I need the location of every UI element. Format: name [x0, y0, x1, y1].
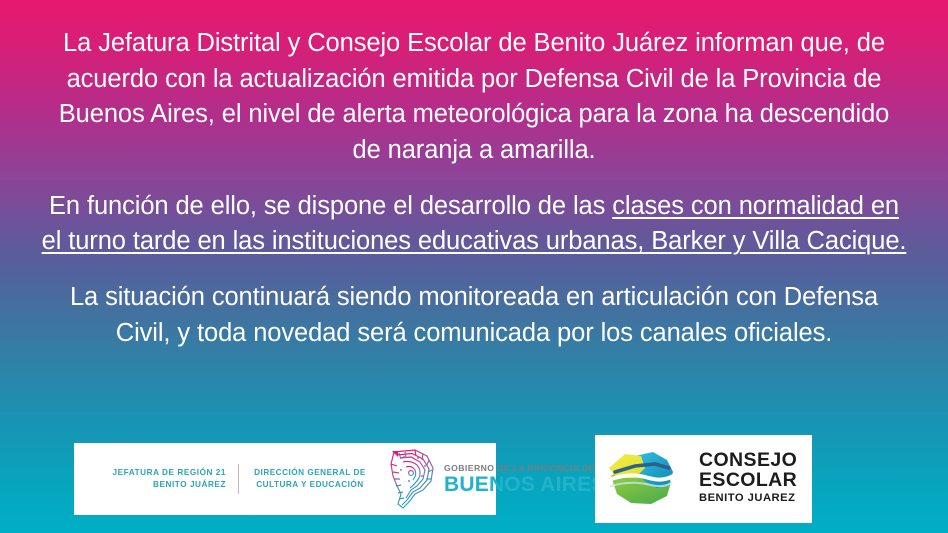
- paragraph-2-lead-text: En función de ello, se dispone el desarr…: [49, 192, 612, 220]
- consejo-escolar-logo-box: CONSEJO ESCOLAR BENITO JUAREZ: [595, 435, 812, 523]
- buenos-aires-province-map-icon: [385, 448, 437, 510]
- consejo-line-1: CONSEJO: [699, 451, 797, 471]
- paragraph-alert-downgrade: La Jefatura Distrital y Consejo Escolar …: [30, 26, 918, 169]
- consejo-line-3: BENITO JUAREZ: [699, 490, 797, 507]
- message-block: La Jefatura Distrital y Consejo Escolar …: [0, 26, 948, 352]
- jefatura-region-label: JEFATURA DE REGIÓN 21 BENITO JUÁREZ: [84, 467, 226, 491]
- direccion-line-2: CULTURA Y EDUCACIÓN: [251, 479, 369, 491]
- announcement-poster: La Jefatura Distrital y Consejo Escolar …: [0, 0, 948, 533]
- paragraph-monitoring: La situación continuará siendo monitorea…: [30, 280, 918, 351]
- logo-bar: JEFATURA DE REGIÓN 21 BENITO JUÁREZ DIRE…: [0, 433, 948, 533]
- direccion-general-label: DIRECCIÓN GENERAL DE CULTURA Y EDUCACIÓN: [251, 467, 369, 491]
- government-logo-box: JEFATURA DE REGIÓN 21 BENITO JUÁREZ DIRE…: [74, 443, 496, 515]
- consejo-escolar-map-mark-icon: [601, 446, 696, 512]
- logo-divider: [238, 464, 239, 494]
- provincia-buenos-aires-logo: GOBIERNO DE LA PROVINCIA DE BUENOS AIRES: [385, 448, 535, 510]
- provincia-text: GOBIERNO DE LA PROVINCIA DE BUENOS AIRES: [444, 463, 605, 495]
- jefatura-line-2: BENITO JUÁREZ: [84, 479, 226, 491]
- paragraph-classes-normal: En función de ello, se dispone el desarr…: [30, 189, 918, 260]
- consejo-escolar-text: CONSEJO ESCOLAR BENITO JUAREZ: [699, 451, 797, 508]
- consejo-line-2: ESCOLAR: [699, 471, 797, 491]
- direccion-line-1: DIRECCIÓN GENERAL DE: [251, 467, 369, 479]
- gobierno-line-2: BUENOS AIRES: [444, 474, 605, 495]
- jefatura-line-1: JEFATURA DE REGIÓN 21: [84, 467, 226, 479]
- gobierno-line-1: GOBIERNO DE LA PROVINCIA DE: [444, 463, 605, 473]
